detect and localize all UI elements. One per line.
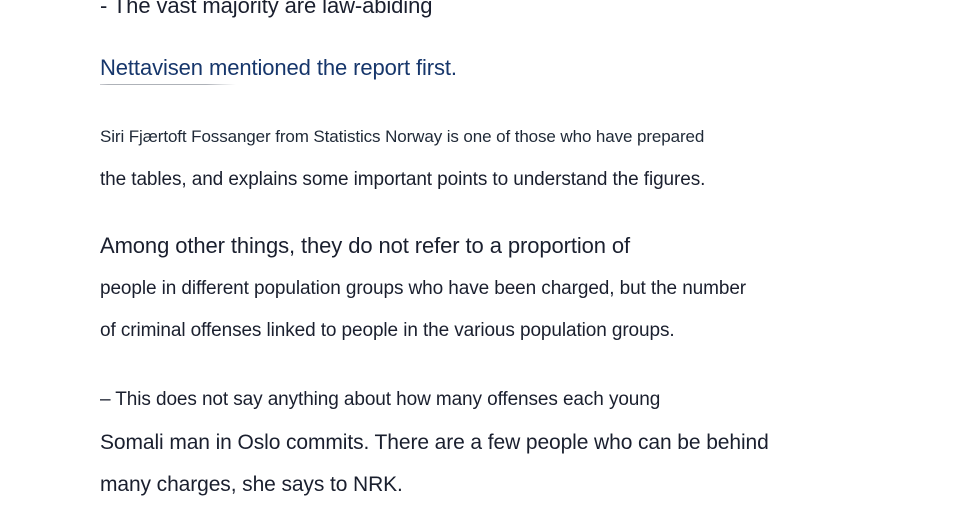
source-attribution-rest: mentioned the report first. [203,55,457,80]
lead-line-law-abiding: - The vast majority are law-abiding [100,0,432,21]
paragraph-among-other-things-line-3: of criminal offenses linked to people in… [100,318,675,344]
paragraph-statistics-norway-line-2: the tables, and explains some important … [100,167,705,193]
paragraph-quote-nrk-line-3: many charges, she says to NRK. [100,470,403,499]
paragraph-statistics-norway-line-1: Siri Fjærtoft Fossanger from Statistics … [100,125,704,149]
article-body: " " - The vast majority are law-abiding … [0,0,974,510]
paragraph-quote-nrk-line-1: – This does not say anything about how m… [100,387,660,413]
paragraph-among-other-things-line-2: people in different population groups wh… [100,276,746,302]
paragraph-quote-nrk-line-2: Somali man in Oslo commits. There are a … [100,428,769,457]
nettavisen-link-underline [100,84,236,85]
nettavisen-link[interactable]: Nettavisen [100,53,203,83]
source-attribution-line: Nettavisen mentioned the report first. [100,53,457,83]
paragraph-among-other-things-line-1: Among other things, they do not refer to… [100,231,630,261]
